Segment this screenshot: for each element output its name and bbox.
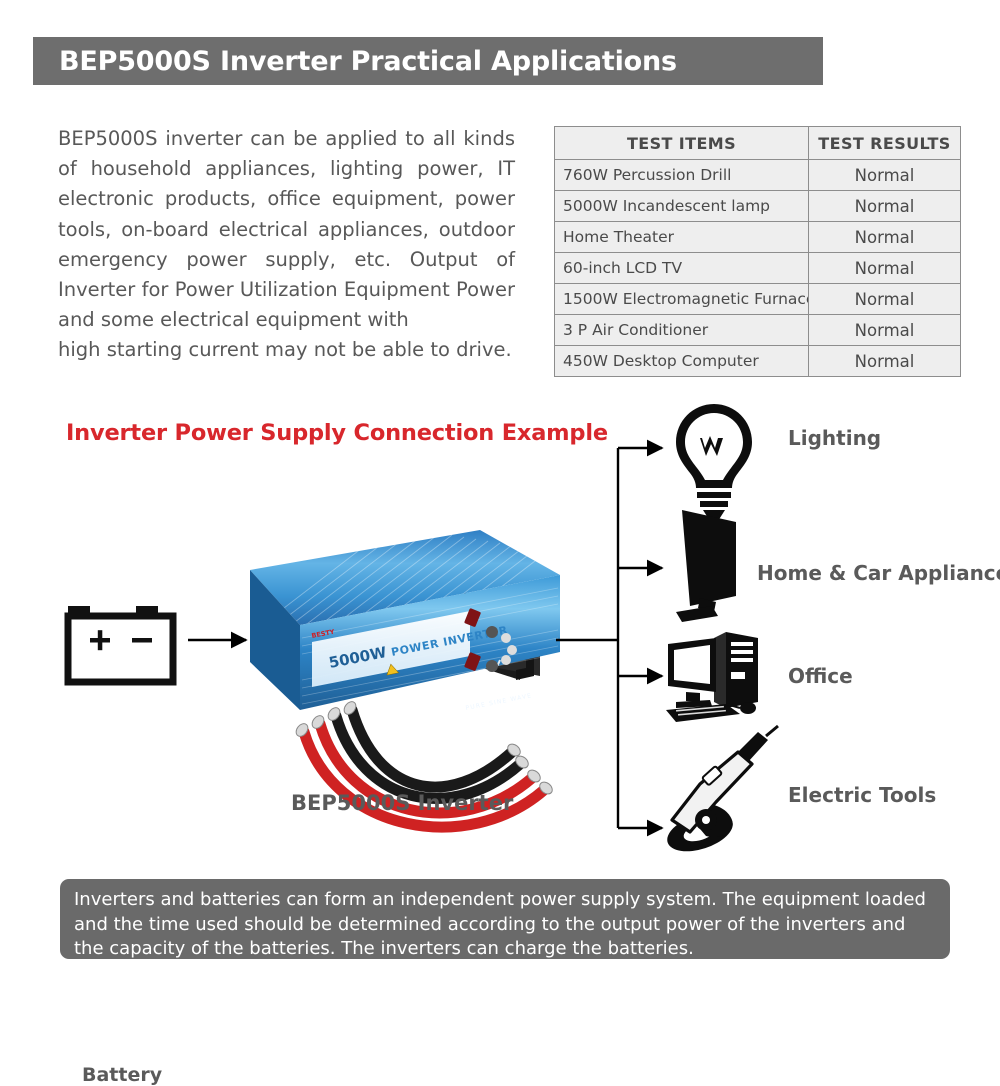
intro-paragraph: BEP5000S inverter can be applied to all … xyxy=(58,124,515,366)
table-row: Home Theater Normal xyxy=(555,222,961,253)
header-bar: BEP5000S Inverter Practical Applications xyxy=(33,37,823,85)
table-row: 450W Desktop Computer Normal xyxy=(555,346,961,377)
cell-item: 450W Desktop Computer xyxy=(555,346,809,377)
intro-last-line: high starting current may not be able to… xyxy=(58,335,515,365)
cell-item: 1500W Electromagnetic Furnace xyxy=(555,284,809,315)
cell-item: 3 P Air Conditioner xyxy=(555,315,809,346)
cell-result: Normal xyxy=(809,253,961,284)
load-label-lighting: Lighting xyxy=(788,426,881,450)
intro-text: BEP5000S inverter can be applied to all … xyxy=(58,127,515,331)
infographic-page: BEP5000S Inverter Practical Applications… xyxy=(0,0,1000,1000)
column-header-test-items: TEST ITEMS xyxy=(555,127,809,160)
battery-icon xyxy=(68,606,173,682)
cell-item: 760W Percussion Drill xyxy=(555,160,809,191)
table-row: 3 P Air Conditioner Normal xyxy=(555,315,961,346)
cell-item: 60-inch LCD TV xyxy=(555,253,809,284)
test-results-table: TEST ITEMS TEST RESULTS 760W Percussion … xyxy=(554,126,961,377)
light-bulb-icon xyxy=(676,404,752,523)
cell-result: Normal xyxy=(809,315,961,346)
page-title: BEP5000S Inverter Practical Applications xyxy=(33,46,677,77)
load-label-home-appliances: Home & Car Appliances xyxy=(757,561,1000,585)
tv-monitor-icon xyxy=(676,510,736,622)
cell-item: 5000W Incandescent lamp xyxy=(555,191,809,222)
distribution-bus xyxy=(556,448,618,828)
cell-result: Normal xyxy=(809,346,961,377)
table-row: 60-inch LCD TV Normal xyxy=(555,253,961,284)
footer-note-box: Inverters and batteries can form an inde… xyxy=(60,879,950,959)
inverter-product-image: 5000W POWER INVERTER BESTY PURE SINE WAV… xyxy=(250,525,560,827)
table-body: 760W Percussion Drill Normal 5000W Incan… xyxy=(555,160,961,377)
load-label-electric-tools: Electric Tools xyxy=(788,783,936,807)
desktop-computer-icon xyxy=(666,632,758,722)
table-row: 1500W Electromagnetic Furnace Normal xyxy=(555,284,961,315)
inverter-label: BEP5000S Inverter xyxy=(291,791,513,815)
footer-note-text: Inverters and batteries can form an inde… xyxy=(74,888,936,962)
angle-grinder-icon xyxy=(662,726,778,859)
column-header-test-results: TEST RESULTS xyxy=(809,127,961,160)
battery-label: Battery xyxy=(82,1064,162,1086)
svg-text:PURE SINE WAVE: PURE SINE WAVE xyxy=(465,692,533,712)
cell-result: Normal xyxy=(809,191,961,222)
table-header-row: TEST ITEMS TEST RESULTS xyxy=(555,127,961,160)
table-row: 760W Percussion Drill Normal xyxy=(555,160,961,191)
cell-result: Normal xyxy=(809,160,961,191)
cell-result: Normal xyxy=(809,222,961,253)
cell-result: Normal xyxy=(809,284,961,315)
load-label-office: Office xyxy=(788,664,853,688)
table-row: 5000W Incandescent lamp Normal xyxy=(555,191,961,222)
cell-item: Home Theater xyxy=(555,222,809,253)
